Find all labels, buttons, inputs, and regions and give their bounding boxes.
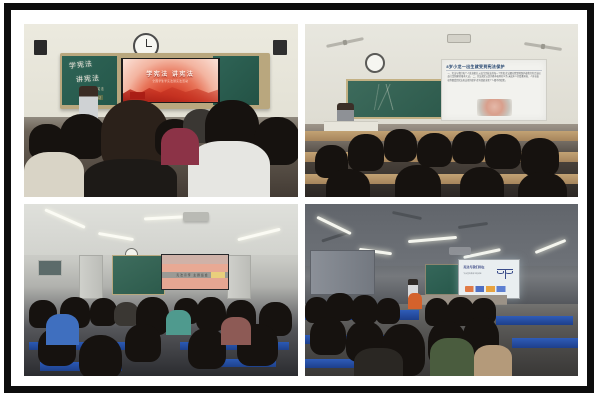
head (29, 124, 65, 159)
chalkboard-text-line2: 讲宪法 (76, 73, 101, 85)
slide-subtitle: 法治宣传教育主题讲座 (463, 273, 481, 276)
slide-title: 宪法宣传 主题班会 (176, 273, 208, 277)
blue-desk-row (29, 342, 127, 351)
wall-poster (38, 260, 62, 276)
hall-window (310, 250, 375, 295)
photo-top-left[interactable]: 学宪法 讲宪法 第七届 学宪法 讲宪法 活动 学宪法 讲宪法 全国学生学宪法讲宪… (24, 24, 298, 197)
slide-accent-chip (211, 272, 226, 277)
photo-grid: 学宪法 讲宪法 第七届 学宪法 讲宪法 活动 学宪法 讲宪法 全国学生学宪法讲宪… (24, 24, 578, 376)
blue-desk-row (305, 310, 420, 319)
chalkboard-right-panel (213, 56, 259, 105)
led-display-screen: 学宪法 讲宪法 全国学生学宪法讲宪法活动 (121, 58, 219, 104)
desk-row (305, 174, 579, 184)
blue-desk-row (305, 359, 414, 368)
scales-of-justice-icon (497, 266, 513, 282)
chalkboard-writing (354, 84, 431, 110)
student-torso (84, 159, 177, 197)
slide-gate-graphic (130, 92, 145, 99)
slide-title: 宪法与我们同在 (463, 265, 484, 269)
head (136, 297, 169, 335)
slide-photo-graphic (477, 99, 512, 116)
head (196, 297, 226, 332)
student-torso (161, 128, 199, 166)
wall-clock-icon (365, 53, 385, 73)
blue-desk-row (180, 342, 289, 351)
speaker-person (408, 279, 418, 298)
student-torso (24, 152, 84, 197)
photo-bottom-right[interactable]: 宪法与我们同在 法治宣传教育主题讲座 (305, 204, 579, 377)
head (125, 324, 161, 362)
desk-row (305, 152, 579, 162)
classroom-door-left[interactable] (79, 255, 103, 298)
classroom-door-right[interactable] (227, 255, 251, 298)
projection-screen: 宪法与我们同在 法治宣传教育主题讲座 (458, 259, 520, 299)
blue-desk-row (305, 335, 398, 344)
blue-desk-row (512, 338, 578, 347)
photo-collage: 学宪法 讲宪法 第七届 学宪法 讲宪法 活动 学宪法 讲宪法 全国学生学宪法讲宪… (0, 0, 602, 402)
blue-desk-row (496, 316, 573, 325)
slide-color-blocks (465, 286, 513, 293)
presentation-slide: 学宪法 讲宪法 全国学生学宪法讲宪法活动 (123, 59, 218, 102)
slide-divider (446, 70, 542, 71)
ceiling-projector-icon (183, 212, 209, 221)
photo-top-right[interactable]: 8岁小龙一出生就受到宪法保护 一、宪法与我们每个人息息相关,从出生到成长的每一个… (305, 24, 579, 197)
wall-speaker-left-icon (34, 40, 48, 56)
front-desk (70, 124, 108, 140)
head (259, 302, 292, 337)
head (155, 119, 193, 157)
student-torso (46, 314, 79, 345)
head (254, 117, 298, 165)
classroom-ceiling (24, 204, 298, 256)
presentation-slide: 宪法宣传 主题班会 (162, 255, 228, 289)
slide-subtitle: 全国学生学宪法讲宪法活动 (123, 79, 218, 83)
blue-desk-row (40, 362, 122, 371)
scales-pan-left (497, 271, 504, 274)
student-torso (188, 141, 270, 196)
ceiling-projector-icon (449, 247, 471, 255)
projection-screen: 8岁小龙一出生就受到宪法保护 一、宪法与我们每个人息息相关,从出生到成长的每一个… (441, 59, 547, 121)
ceiling-projector-icon (447, 34, 471, 43)
student-torso (166, 310, 191, 334)
head (174, 298, 199, 324)
slide-body-text: 一、宪法与我们每个人息息相关,从出生到成长的每一个阶段,宪法都在默默地保护着我们… (447, 73, 541, 83)
head (226, 300, 256, 333)
photo-bottom-left[interactable]: 宪法宣传 主题班会 (24, 204, 298, 377)
head (90, 298, 117, 326)
wall-speaker-right-icon (273, 40, 287, 56)
head (114, 302, 139, 326)
slide-title: 学宪法 讲宪法 (123, 69, 218, 78)
blue-desk-row (205, 359, 276, 368)
head (60, 297, 90, 328)
scales-pan-right (505, 271, 512, 274)
head (29, 300, 56, 328)
chalkboard (112, 255, 166, 295)
projection-screen: 宪法宣传 主题班会 (161, 254, 229, 290)
desk-row (305, 131, 579, 141)
